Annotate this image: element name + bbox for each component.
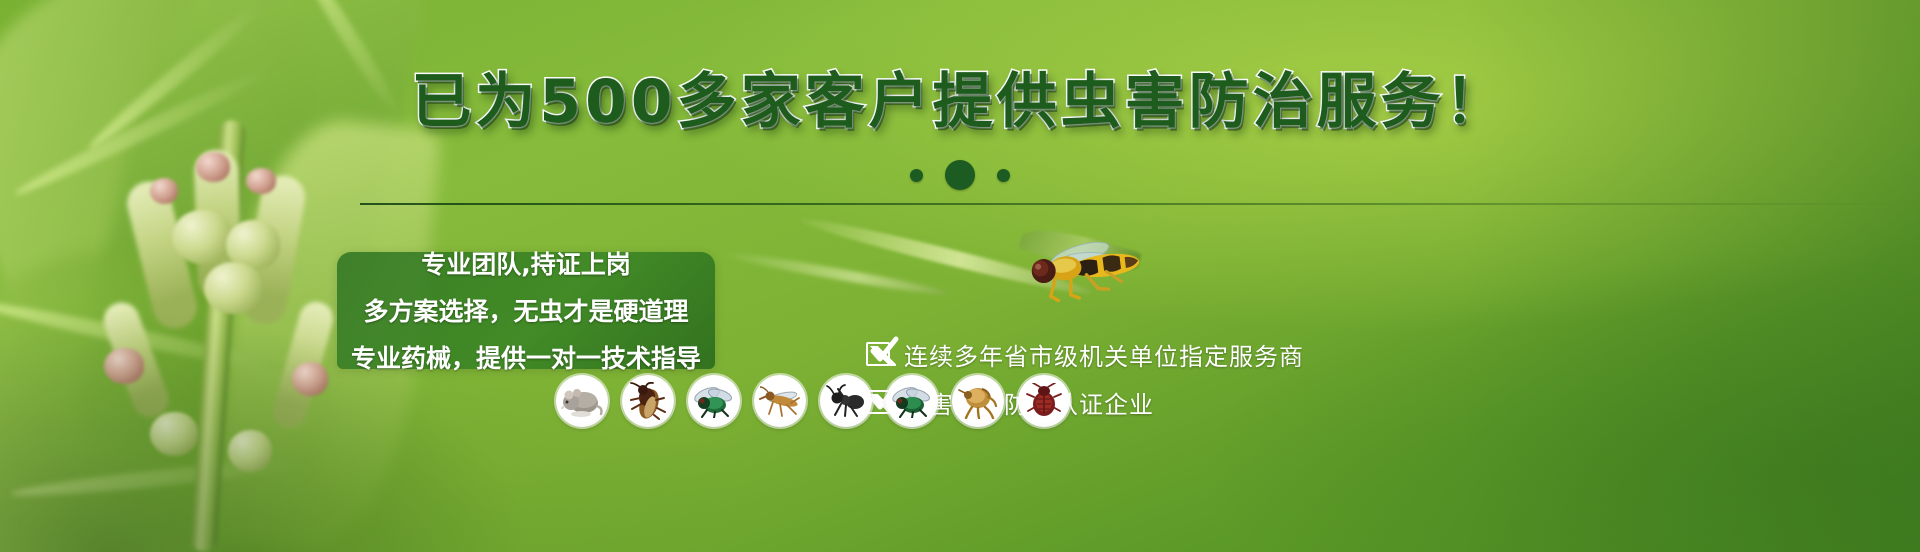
flower-bud: [150, 412, 198, 456]
background-plant-photo: [0, 0, 1920, 552]
bedbug-icon[interactable]: [1018, 375, 1070, 427]
grass-blade: [10, 454, 310, 501]
flower-bud: [172, 210, 232, 264]
fly-icon[interactable]: [688, 375, 740, 427]
selling-point-line-1: 专业团队,持证上岗: [337, 245, 715, 281]
checklist-row: 连续多年省市级机关单位指定服务商: [866, 330, 1304, 378]
selling-point-line-3: 专业药械，提供一对一技术指导: [337, 339, 715, 375]
dot-small-right: [997, 169, 1010, 182]
decorative-dots: [0, 160, 1920, 190]
mouse-icon[interactable]: [556, 375, 608, 427]
grass-blade: [290, 0, 410, 127]
grass-blade: [0, 295, 308, 381]
headline-text: 已为500多家客户提供虫害防治服务！: [411, 72, 1508, 132]
leaf-shape: [69, 0, 431, 481]
vignette-right: [1460, 0, 1920, 552]
headline-container: 已为500多家客户提供虫害防治服务！: [0, 72, 1920, 132]
ant-icon[interactable]: [820, 375, 872, 427]
blowfly-icon[interactable]: [886, 375, 938, 427]
flower-spike: [269, 298, 338, 432]
flower-bud: [226, 220, 280, 270]
flower-bud: [292, 362, 328, 396]
mosquito-icon[interactable]: [754, 375, 806, 427]
dot-large: [945, 160, 975, 190]
selling-point-line-2: 多方案选择，无虫才是硬道理: [337, 292, 715, 328]
pest-icon-row: [556, 375, 1070, 427]
flea-icon[interactable]: [952, 375, 1004, 427]
flower-bud: [104, 348, 144, 384]
check-mark-icon: [869, 336, 899, 366]
checkbox-checked-icon: [866, 342, 890, 366]
leaf-shape: [0, 222, 351, 552]
flower-spike: [123, 177, 202, 333]
flower-spike: [99, 297, 174, 422]
checklist-label: 连续多年省市级机关单位指定服务商: [904, 337, 1304, 372]
divider-rule: [360, 203, 1900, 205]
dot-small-left: [910, 169, 923, 182]
grass-blade: [84, 0, 286, 154]
promo-banner: 已为500多家客户提供虫害防治服务！ 专业团队,持证上岗 多方案选择，无虫才是硬…: [0, 0, 1920, 552]
flower-spike: [239, 172, 308, 327]
flower-bud: [204, 262, 262, 314]
selling-points-box: 专业团队,持证上岗 多方案选择，无虫才是硬道理 专业药械，提供一对一技术指导: [337, 252, 715, 369]
cockroach-icon[interactable]: [622, 375, 674, 427]
flower-bud: [228, 430, 272, 472]
